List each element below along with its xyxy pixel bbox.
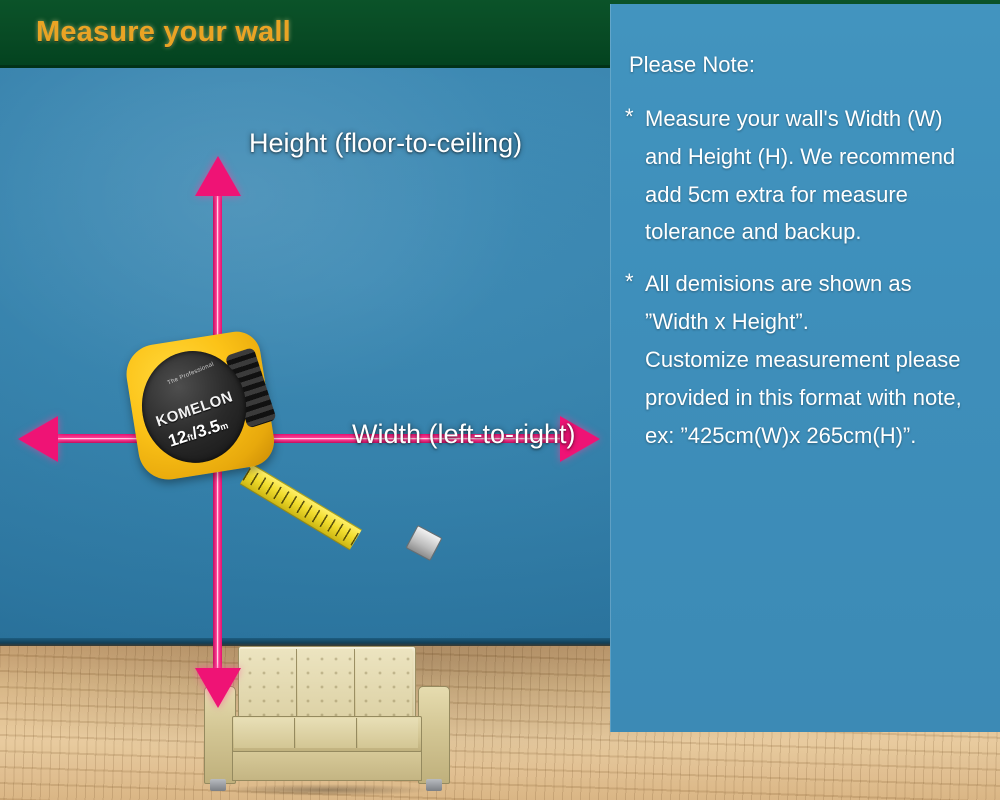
note-line: provided in this format with note, xyxy=(645,379,986,417)
tape-measure: The Professional KOMELON 12ft/3.5m xyxy=(126,334,336,554)
sofa-leg xyxy=(210,779,226,791)
note-bullet-icon: * xyxy=(625,265,645,454)
note-panel: Please Note: *Measure your wall's Width … xyxy=(610,4,1000,732)
measure-your-wall-infographic: Measure your wall xyxy=(0,0,1000,800)
note-line: add 5cm extra for measure xyxy=(645,176,986,214)
page-title: Measure your wall xyxy=(36,16,291,49)
height-arrow-down-head-icon xyxy=(195,668,241,708)
height-arrow-up-head-icon xyxy=(195,156,241,196)
sofa-back-cushion xyxy=(298,649,355,717)
height-dimension-label: Height (floor-to-ceiling) xyxy=(249,128,522,159)
note-item-list: *Measure your wall's Width (W)and Height… xyxy=(625,100,986,454)
note-panel-title: Please Note: xyxy=(629,52,986,78)
sofa-back-cushion xyxy=(356,649,412,717)
note-bullet-icon: * xyxy=(625,100,645,251)
note-line: and Height (H). We recommend xyxy=(645,138,986,176)
sofa xyxy=(196,636,456,800)
tape-length-ft-value: 12 xyxy=(166,427,190,451)
tape-measure-body: The Professional KOMELON 12ft/3.5m xyxy=(122,328,278,484)
note-line: All demisions are shown as xyxy=(645,265,986,303)
note-line: Measure your wall's Width (W) xyxy=(645,100,986,138)
sofa-leg xyxy=(426,779,442,791)
tape-length-m-unit: m xyxy=(219,420,230,432)
note-item: *All demisions are shown as”Width x Heig… xyxy=(625,265,986,454)
note-line: ex: ”425cm(W)x 265cm(H)”. xyxy=(645,417,986,455)
width-arrow-left-head-icon xyxy=(18,416,58,462)
width-dimension-label: Width (left-to-right) xyxy=(352,419,576,450)
sofa-shadow xyxy=(190,782,464,798)
sofa-base xyxy=(232,748,422,781)
note-item-lines: Measure your wall's Width (W)and Height … xyxy=(645,100,986,251)
sofa-back-cushion xyxy=(240,649,297,717)
note-line: Customize measurement please xyxy=(645,341,986,379)
tape-length-ft-unit: ft xyxy=(186,432,195,443)
sofa-seat-cushion xyxy=(234,718,295,748)
sofa-seat xyxy=(232,716,422,752)
note-line: tolerance and backup. xyxy=(645,213,986,251)
sofa-arm-right xyxy=(418,686,450,784)
note-line: ”Width x Height”. xyxy=(645,303,986,341)
tape-measure-tagline: The Professional xyxy=(153,356,229,393)
tape-length-m-value: 3.5 xyxy=(194,416,222,441)
note-item: *Measure your wall's Width (W)and Height… xyxy=(625,100,986,251)
note-item-lines: All demisions are shown as”Width x Heigh… xyxy=(645,265,986,454)
sofa-seat-cushion xyxy=(358,718,418,748)
sofa-seat-cushion xyxy=(296,718,357,748)
sofa-backrest xyxy=(238,646,416,720)
